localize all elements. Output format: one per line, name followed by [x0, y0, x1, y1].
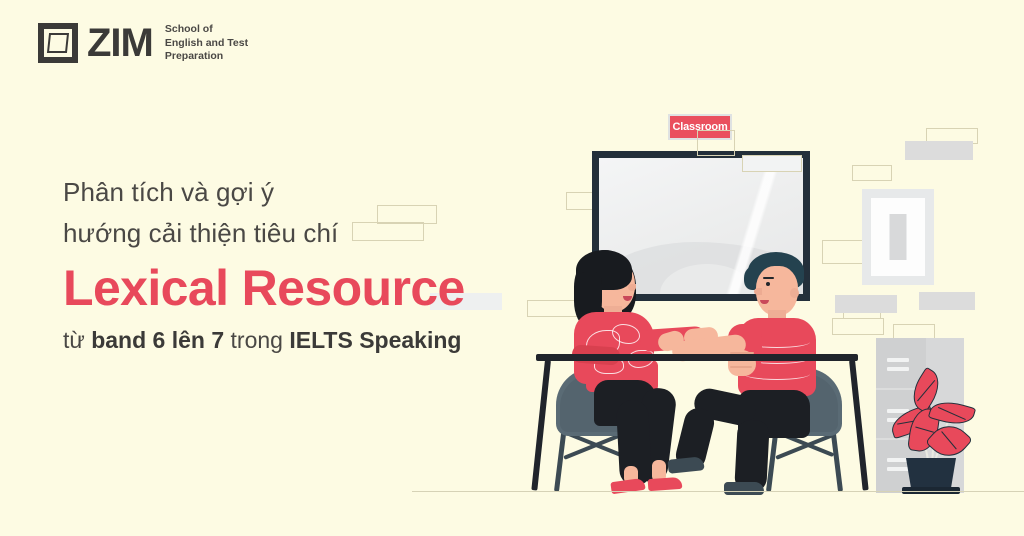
tagline-line-1: School of	[165, 23, 248, 37]
promo-banner: ZIM School of English and Test Preparati…	[0, 0, 1024, 536]
ear	[790, 288, 799, 298]
decor-rect-outline	[697, 130, 735, 156]
decor-rect-outline	[832, 318, 884, 335]
zim-square-icon	[38, 23, 78, 63]
shoe	[724, 482, 764, 495]
table-leg-right	[849, 360, 869, 491]
headline-subline: từ band 6 lên 7 trong IELTS Speaking	[63, 323, 583, 357]
subline-bold-ielts: IELTS Speaking	[289, 327, 461, 353]
decor-rect-fill	[919, 292, 975, 310]
eyebrow	[763, 277, 774, 279]
decor-rect-fill	[905, 141, 973, 160]
subline-prefix: từ	[63, 327, 91, 353]
finger-line	[730, 366, 752, 368]
table-leg-left	[531, 360, 551, 491]
decor-rect-fill	[835, 295, 897, 313]
subline-middle: trong	[224, 327, 289, 353]
headline-line-1: Phân tích và gợi ý	[63, 172, 583, 213]
potted-plant	[884, 372, 980, 494]
decor-rect-outline	[742, 155, 802, 172]
nose	[628, 284, 636, 291]
floor-line	[412, 491, 1024, 492]
cabinet-handle	[887, 367, 909, 371]
headline-block: Phân tích và gợi ý hướng cải thiện tiêu …	[63, 172, 583, 357]
nose	[754, 288, 762, 295]
brand-logo[interactable]: ZIM School of English and Test Preparati…	[38, 22, 248, 64]
headline-line-2: hướng cải thiện tiêu chí	[63, 213, 583, 254]
person-man	[672, 252, 832, 495]
subline-bold-band: band 6 lên 7	[91, 327, 224, 353]
table-top	[536, 354, 858, 361]
tagline-line-3: Preparation	[165, 50, 248, 64]
brand-tagline: School of English and Test Preparation	[165, 23, 248, 64]
wall-frame-art	[871, 198, 925, 276]
cabinet-handle	[887, 358, 909, 362]
logo-wordmark: ZIM	[87, 23, 153, 63]
eye	[766, 282, 770, 286]
tagline-line-2: English and Test	[165, 37, 248, 51]
shoe	[667, 456, 704, 474]
decor-rect-outline	[852, 165, 892, 181]
wall-picture-frame	[862, 189, 934, 285]
headline-emphasis: Lexical Resource	[63, 256, 583, 320]
